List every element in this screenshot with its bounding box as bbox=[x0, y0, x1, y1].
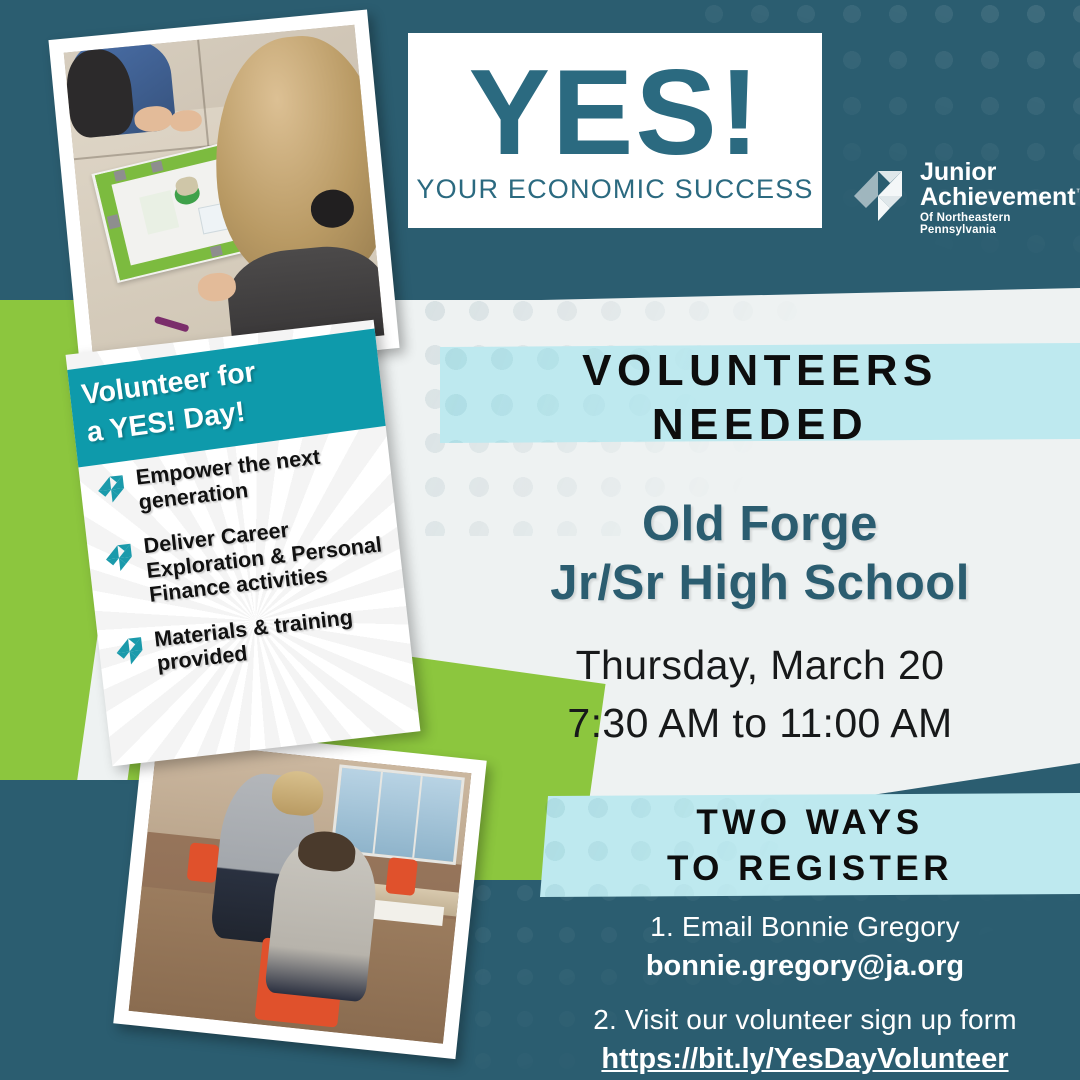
event-datetime: Thursday, March 20 7:30 AM to 11:00 AM bbox=[440, 636, 1080, 752]
event-date: Thursday, March 20 bbox=[440, 636, 1080, 694]
page-title-line2: NEEDED bbox=[440, 398, 1080, 452]
list-item-label: Deliver Career Exploration & Personal Fi… bbox=[142, 507, 391, 607]
register-heading-line2: TO REGISTER bbox=[540, 846, 1080, 892]
yes-logo: YES! YOUR ECONOMIC SUCCESS bbox=[408, 33, 822, 228]
ja-logo-line1: Junior bbox=[920, 160, 1080, 185]
yes-logo-tagline: YOUR ECONOMIC SUCCESS bbox=[416, 174, 813, 205]
list-item: Deliver Career Exploration & Personal Fi… bbox=[87, 506, 403, 614]
volunteer-benefit-list: Empower the next generation Deliver Care… bbox=[79, 437, 413, 702]
photo-volunteer-helping-student bbox=[113, 725, 486, 1059]
registration-options: 1. Email Bonnie Gregory bonnie.gregory@j… bbox=[530, 908, 1080, 1080]
register-heading-line1: TWO WAYS bbox=[540, 800, 1080, 846]
volunteer-info-card: Volunteer for a YES! Day! Empower the ne… bbox=[66, 320, 421, 766]
ja-logo-line2: Achievement™ bbox=[920, 185, 1080, 210]
ja-triangle-bullet-icon bbox=[103, 540, 137, 580]
register-email-address[interactable]: bonnie.gregory@ja.org bbox=[530, 946, 1080, 987]
page-title-line1: VOLUNTEERS bbox=[440, 344, 1080, 398]
page-title: VOLUNTEERS NEEDED bbox=[440, 344, 1080, 451]
flyer-canvas: YES! YOUR ECONOMIC SUCCESS Junior Achiev… bbox=[0, 0, 1080, 1080]
ja-trademark-symbol: ™ bbox=[1076, 188, 1080, 199]
yes-logo-word: YES! bbox=[469, 56, 762, 168]
event-time: 7:30 AM to 11:00 AM bbox=[440, 694, 1080, 752]
event-location: Old Forge Jr/Sr High School bbox=[440, 495, 1080, 613]
junior-achievement-logo: Junior Achievement™ Of Northeastern Penn… bbox=[852, 160, 1080, 236]
ja-triangle-bullet-icon bbox=[114, 633, 148, 673]
spacer bbox=[530, 987, 1080, 1001]
register-option2-label: 2. Visit our volunteer sign up form bbox=[530, 1001, 1080, 1039]
ja-logo-line3: Of Northeastern Pennsylvania bbox=[920, 213, 1080, 236]
list-item-label: Materials & training provided bbox=[153, 600, 399, 676]
register-heading: TWO WAYS TO REGISTER bbox=[540, 800, 1080, 891]
register-option1-label: 1. Email Bonnie Gregory bbox=[530, 908, 1080, 946]
event-location-line1: Old Forge bbox=[440, 495, 1080, 554]
ja-triangle-icon bbox=[852, 165, 908, 232]
ja-triangle-bullet-icon bbox=[95, 472, 129, 512]
list-item: Materials & training provided bbox=[97, 598, 411, 682]
event-location-line2: Jr/Sr High School bbox=[440, 554, 1080, 613]
register-signup-link[interactable]: https://bit.ly/YesDayVolunteer bbox=[530, 1039, 1080, 1080]
